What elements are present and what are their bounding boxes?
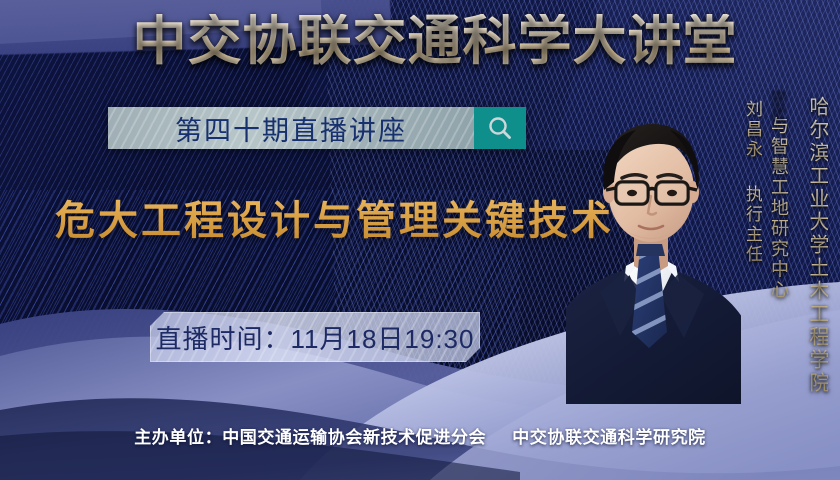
search-icon	[486, 114, 514, 142]
footer-organizers: 主办单位：中国交通运输协会新技术促进分会中交协联交通科学研究院	[0, 423, 840, 448]
lecture-topic-title: 危大工程设计与管理关键技术	[55, 188, 614, 246]
search-button[interactable]	[474, 107, 526, 149]
organizer-label: 主办单位：	[134, 428, 222, 447]
broadcast-time-badge: 直播时间：11月18日19:30	[150, 312, 480, 362]
speaker-role: 执行主任	[743, 185, 762, 265]
page-title: 中交协联交通科学大讲堂	[0, 14, 840, 68]
speaker-affiliation-school: 哈尔滨工业大学土木工程学院	[806, 96, 828, 395]
episode-bar-fill: 第四十期直播讲座	[108, 107, 474, 149]
episode-label: 第四十期直播讲座	[175, 109, 407, 148]
speaker-name: 刘昌永	[743, 100, 762, 160]
organizer-secondary: 中交协联交通科学研究院	[512, 428, 706, 447]
broadcast-time-text: 直播时间：11月18日19:30	[156, 319, 475, 356]
poster-root: 哈尔滨工业大学土木工程学院 BIM与智慧工地研究中心 刘昌永 执行主任 中交协联…	[0, 0, 840, 480]
speaker-affiliation-center: BIM与智慧工地研究中心	[763, 96, 795, 301]
episode-bar: 第四十期直播讲座	[108, 107, 526, 149]
affiliation-center-rest: 与智慧工地研究中心	[769, 116, 789, 301]
organizer-primary: 中国交通运输协会新技术促进分会	[222, 428, 486, 447]
affiliation-center-prefix: BIM	[769, 90, 789, 122]
